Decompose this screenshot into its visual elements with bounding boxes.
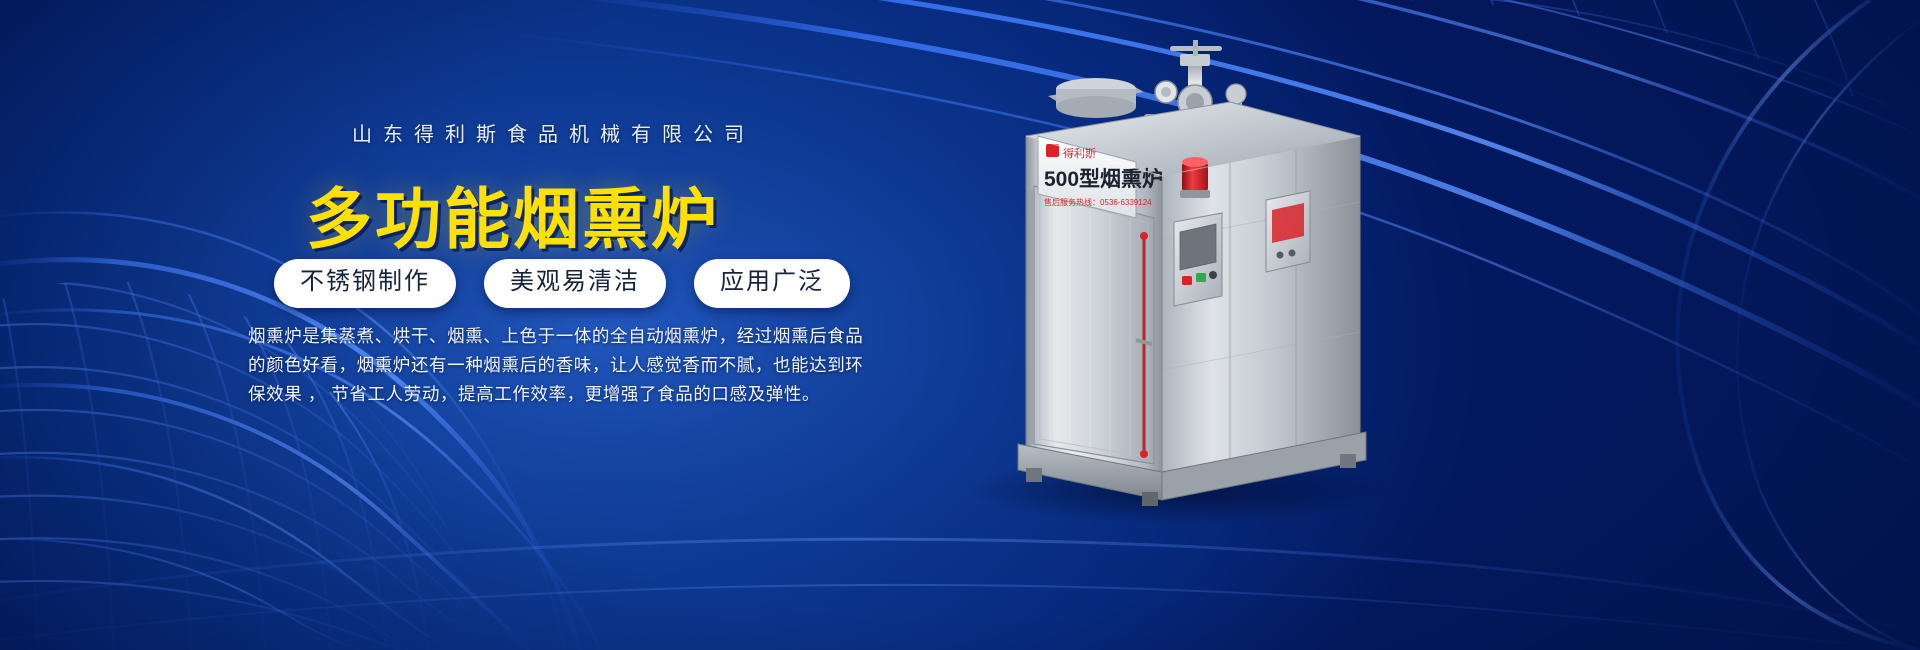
description-line-1: 烟熏炉是集蒸煮、烘干、烟熏、上色于一体的全自动烟熏炉，经过烟熏后食品 xyxy=(248,322,814,351)
description-line-2: 的颜色好看，烟熏炉还有一种烟熏后的香味，让人感觉香而不腻，也能达到环 xyxy=(248,351,814,380)
promo-banner: 得利斯 500型烟熏炉 售后服务热线：0536-6339124 xyxy=(0,0,1920,650)
svg-text:售后服务热线：0536-6339124: 售后服务热线：0536-6339124 xyxy=(1044,197,1152,207)
company-name: 山东得利斯食品机械有限公司 xyxy=(352,118,755,147)
feature-pill-wide-use[interactable]: 应用广泛 xyxy=(694,259,850,308)
page-title: 多功能烟熏炉 xyxy=(306,166,720,262)
text-column: 山东得利斯食品机械有限公司 多功能烟熏炉 不锈钢制作 美观易清洁 应用广泛 烟熏… xyxy=(0,0,860,650)
smokehouse-oven-illustration: 得利斯 500型烟熏炉 售后服务热线：0536-6339124 xyxy=(930,40,1450,540)
description-line-3: 保效果 ， 节省工人劳动，提高工作效率，更增强了食品的口感及弹性。 xyxy=(248,380,814,409)
beacon-lamp xyxy=(1180,157,1210,198)
junction-box xyxy=(1266,191,1310,272)
feature-pill-easy-clean[interactable]: 美观易清洁 xyxy=(484,259,666,308)
feature-pill-list: 不锈钢制作 美观易清洁 应用广泛 xyxy=(274,259,850,308)
feature-pill-stainless[interactable]: 不锈钢制作 xyxy=(274,259,456,308)
control-panel xyxy=(1174,213,1222,306)
description-text: 烟熏炉是集蒸煮、烘干、烟熏、上色于一体的全自动烟熏炉，经过烟熏后食品 的颜色好看… xyxy=(248,322,814,409)
